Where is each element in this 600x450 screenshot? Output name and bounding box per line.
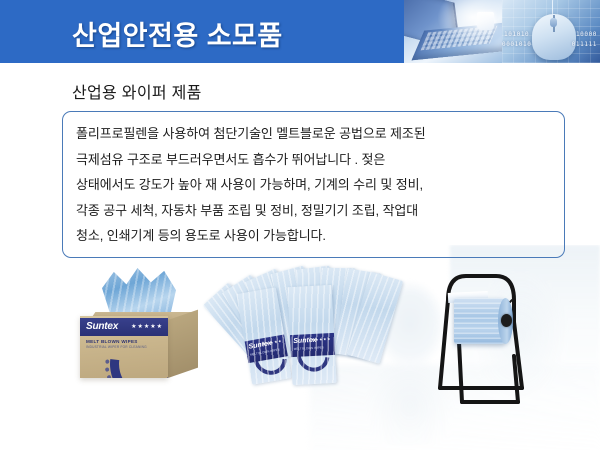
laptop-glow	[438, 0, 502, 45]
wiper-roll-stand-photo	[418, 260, 558, 412]
box-stars: ★★★★★	[131, 323, 163, 330]
pack-brand-text: Suntex	[293, 337, 317, 345]
pack-stars: ★★★★★	[262, 339, 282, 346]
wiper-sheet	[102, 268, 176, 316]
pack-stars: ★★★★★	[311, 337, 331, 342]
pack-subtitle: MELT BLOWN WIPES	[294, 345, 324, 351]
pack-swoosh-logo	[290, 332, 336, 378]
binary-text-1: 101010	[504, 31, 529, 38]
wiper-box-photo: Suntex ★★★★★ MELT BLOWN WIPES INDUSTRIAL…	[22, 270, 202, 390]
binary-text-4: 011111	[572, 41, 597, 48]
description-box: 폴리프로필렌을 사용하여 첨단기술인 멜트블로운 공법으로 제조된 극제섬유 구…	[62, 111, 565, 258]
pack-item-front-right: Suntex ★★★★★ MELT BLOWN WIPES	[287, 285, 336, 385]
pack-label: Suntex ★★★★★ MELT BLOWN WIPES	[290, 333, 335, 357]
box-front-panel: Suntex ★★★★★ MELT BLOWN WIPES INDUSTRIAL…	[80, 316, 168, 378]
box-label-band: Suntex ★★★★★	[80, 318, 168, 336]
pack-label: Suntex ★★★★★ MELT BLOWN WIPES	[245, 334, 288, 363]
description-line-4: 각종 공구 세척, 자동차 부품 조립 및 정비, 정밀기기 조립, 작업대	[76, 198, 554, 224]
laptop-photo	[404, 0, 502, 63]
header-banner: 산업안전용 소모품 101010 0001010 10000 011111	[0, 0, 600, 63]
wiper-packs-photo: Suntex ★★★★★ MELT BLOWN WIPES Suntex ★★★…	[238, 264, 398, 394]
box-subtitle-2: INDUSTRIAL WIPER FOR CLEANING	[86, 345, 147, 349]
description-line-2: 극제섬유 구조로 부드러우면서도 흡수가 뛰어납니다 . 젖은	[76, 147, 554, 173]
slide: 산업안전용 소모품 101010 0001010 10000 011111	[0, 0, 600, 450]
mouse-scroll-wheel	[550, 18, 557, 27]
box-subtitle-1: MELT BLOWN WIPES	[86, 339, 138, 344]
description-line-3: 상태에서도 강도가 높아 재 사용이 가능하며, 기계의 수리 및 정비,	[76, 172, 554, 198]
pack-brand-text: Suntex	[248, 340, 272, 351]
section-subtitle: 산업용 와이퍼 제품	[72, 79, 202, 103]
binary-text-3: 10000	[576, 31, 597, 38]
box-brand-text: Suntex	[86, 321, 118, 332]
box-side-panel	[168, 310, 198, 378]
roll-core-hub	[501, 314, 512, 327]
product-image-row: Suntex ★★★★★ MELT BLOWN WIPES INDUSTRIAL…	[0, 258, 600, 450]
computer-mouse-photo: 101010 0001010 10000 011111	[502, 0, 600, 63]
description-line-5: 청소, 인쇄기계 등의 용도로 사용이 가능합니다.	[76, 223, 554, 249]
description-line-1: 폴리프로필렌을 사용하여 첨단기술인 멜트블로운 공법으로 제조된	[76, 121, 554, 147]
binary-text-2: 0001010	[502, 41, 532, 48]
header-photo-strip: 101010 0001010 10000 011111	[404, 0, 600, 63]
page-title: 산업안전용 소모품	[72, 14, 283, 53]
description-text: 폴리프로필렌을 사용하여 첨단기술인 멜트블로운 공법으로 제조된 극제섬유 구…	[76, 121, 554, 249]
pack-subtitle: MELT BLOWN WIPES	[250, 348, 280, 357]
